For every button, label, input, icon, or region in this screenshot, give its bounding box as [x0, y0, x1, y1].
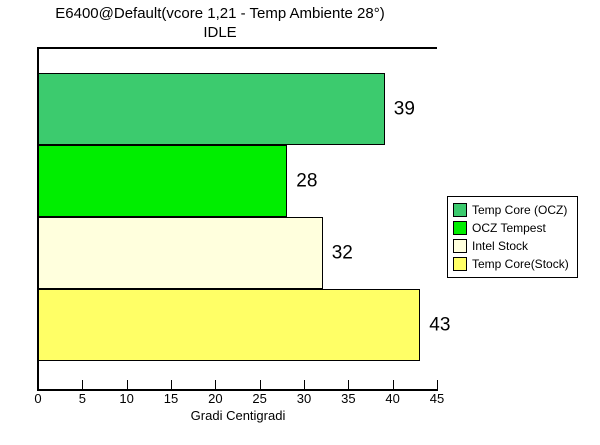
legend-item-label: OCZ Tempest — [472, 222, 546, 235]
x-tick-mark — [215, 380, 216, 389]
bar-value-label: 32 — [332, 244, 353, 263]
bar[interactable] — [39, 73, 385, 145]
plot-top-rule — [38, 47, 437, 49]
x-tick-label: 10 — [119, 392, 133, 406]
legend-item-label: Temp Core(Stock) — [472, 258, 569, 271]
chart-title-block: E6400@Default(vcore 1,21 - Temp Ambiente… — [0, 4, 440, 42]
x-tick-mark — [304, 380, 305, 389]
legend-item[interactable]: Temp Core(Stock) — [453, 255, 573, 273]
bar-row: 43 — [39, 289, 438, 361]
x-tick-label: 45 — [430, 392, 444, 406]
bar[interactable] — [39, 217, 323, 289]
x-tick-mark — [82, 380, 83, 389]
legend-item[interactable]: Temp Core (OCZ) — [453, 201, 573, 219]
legend-item[interactable]: Intel Stock — [453, 237, 573, 255]
x-tick-label: 0 — [34, 392, 41, 406]
bar-row: 28 — [39, 145, 438, 217]
bar-row: 32 — [39, 217, 438, 289]
bar-row: 39 — [39, 73, 438, 145]
x-tick-label: 20 — [208, 392, 222, 406]
x-tick-mark — [348, 380, 349, 389]
x-tick-mark — [260, 380, 261, 389]
x-tick-mark — [437, 380, 438, 389]
bar-value-label: 39 — [394, 100, 415, 119]
legend-item[interactable]: OCZ Tempest — [453, 219, 573, 237]
legend-swatch-icon — [453, 221, 467, 235]
x-axis-label: Gradi Centigradi — [38, 408, 438, 424]
x-tick-label: 15 — [164, 392, 178, 406]
x-tick-mark — [171, 380, 172, 389]
x-tick-mark — [38, 380, 39, 389]
x-axis-ticks: 051015202530354045 — [0, 380, 600, 410]
chart-subtitle: IDLE — [0, 23, 440, 42]
x-tick-mark — [393, 380, 394, 389]
x-tick-label: 5 — [79, 392, 86, 406]
bar-value-label: 28 — [296, 172, 317, 191]
chart-title: E6400@Default(vcore 1,21 - Temp Ambiente… — [0, 4, 440, 23]
bar[interactable] — [39, 145, 287, 217]
legend-item-label: Intel Stock — [472, 240, 528, 253]
legend-swatch-icon — [453, 239, 467, 253]
x-tick-label: 25 — [252, 392, 266, 406]
legend-swatch-icon — [453, 257, 467, 271]
bars-area: 39283243 — [39, 73, 438, 361]
bar-value-label: 43 — [429, 316, 450, 335]
x-tick-mark — [127, 380, 128, 389]
legend-swatch-icon — [453, 203, 467, 217]
bar[interactable] — [39, 289, 420, 361]
bar-chart: E6400@Default(vcore 1,21 - Temp Ambiente… — [0, 0, 600, 445]
x-tick-label: 30 — [297, 392, 311, 406]
x-tick-label: 35 — [341, 392, 355, 406]
legend: Temp Core (OCZ)OCZ TempestIntel StockTem… — [447, 196, 578, 278]
x-tick-label: 40 — [385, 392, 399, 406]
legend-item-label: Temp Core (OCZ) — [472, 204, 567, 217]
